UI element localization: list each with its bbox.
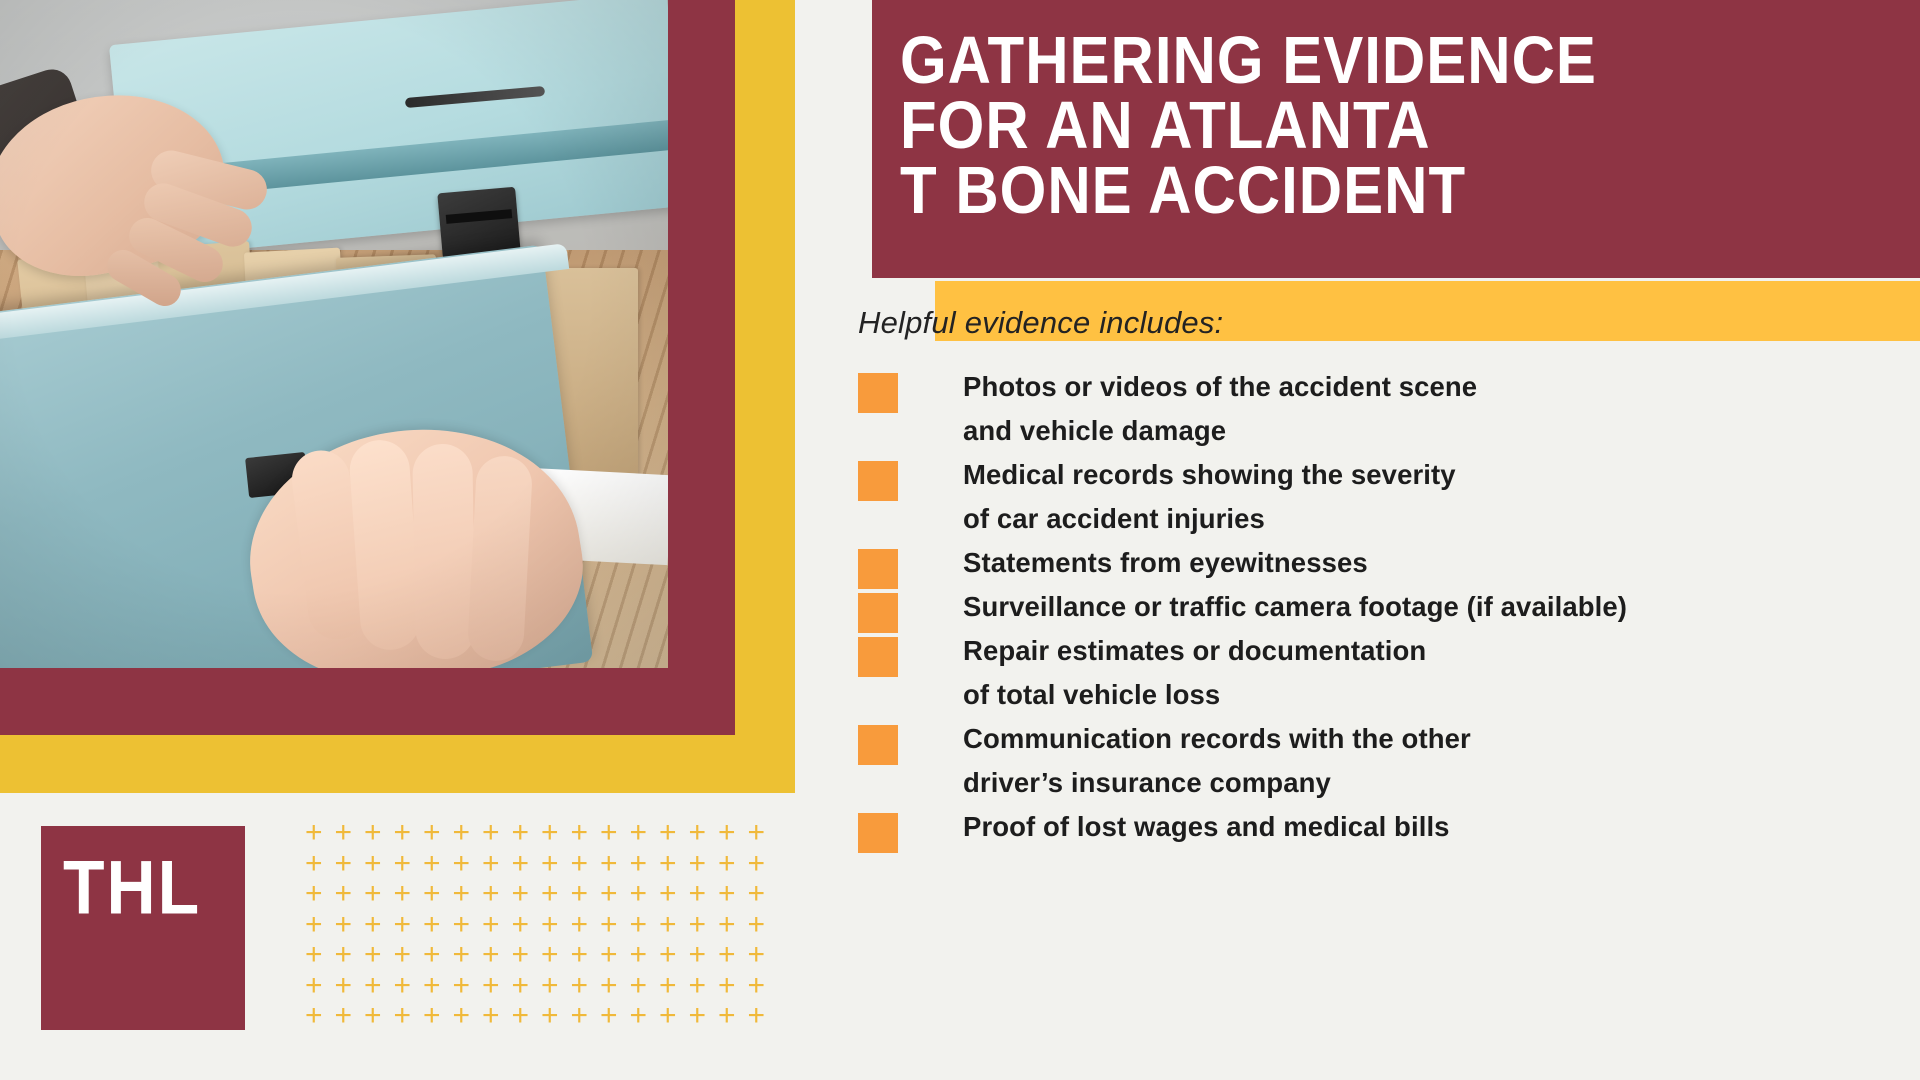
plus-icon: +: [571, 940, 589, 970]
plus-icon: +: [748, 849, 766, 879]
evidence-list: Photos or videos of the accident scene a…: [858, 365, 1898, 849]
plus-icon: +: [541, 971, 559, 1001]
plus-icon: +: [305, 940, 323, 970]
square-bullet-icon: [858, 725, 898, 765]
plus-icon: +: [453, 910, 471, 940]
decor-maroon-horizontal-bar: [0, 668, 735, 735]
plus-icon: +: [748, 910, 766, 940]
plus-icon: +: [541, 1001, 559, 1031]
plus-icon: +: [423, 971, 441, 1001]
decor-plus-pattern: ++++++++++++++++++++++++++++++++++++++++…: [305, 818, 765, 1040]
square-bullet-icon: [858, 373, 898, 413]
plus-icon: +: [541, 910, 559, 940]
plus-icon: +: [541, 818, 559, 848]
plus-icon: +: [512, 910, 530, 940]
plus-icon: +: [335, 879, 353, 909]
plus-icon: +: [718, 818, 736, 848]
plus-icon: +: [512, 940, 530, 970]
list-item-label-line2: and vehicle damage: [963, 409, 1898, 453]
square-bullet-icon: [858, 549, 898, 589]
plus-icon: +: [541, 879, 559, 909]
plus-icon: +: [571, 849, 589, 879]
plus-icon: +: [689, 1001, 707, 1031]
thl-logo-text: THL: [63, 844, 201, 931]
square-bullet-icon: [858, 637, 898, 677]
plus-icon: +: [659, 940, 677, 970]
plus-icon: +: [423, 849, 441, 879]
plus-icon: +: [689, 910, 707, 940]
plus-icon: +: [689, 879, 707, 909]
thl-logo: THL: [41, 826, 245, 1030]
plus-icon: +: [718, 1001, 736, 1031]
plus-icon: +: [748, 879, 766, 909]
plus-icon: +: [630, 849, 648, 879]
plus-icon: +: [364, 879, 382, 909]
plus-icon: +: [600, 971, 618, 1001]
photo-canvas: [0, 0, 668, 673]
plus-icon: +: [541, 940, 559, 970]
plus-icon: +: [423, 1001, 441, 1031]
plus-icon: +: [571, 879, 589, 909]
intro-text: Helpful evidence includes:: [858, 305, 1223, 341]
list-item-label: Surveillance or traffic camera footage (…: [963, 585, 1898, 629]
list-item-label: Photos or videos of the accident scene: [963, 365, 1898, 409]
plus-icon: +: [630, 971, 648, 1001]
page-title: GATHERING EVIDENCE FOR AN ATLANTA T BONE…: [900, 28, 1910, 223]
plus-icon: +: [394, 940, 412, 970]
page-title-line-1: GATHERING EVIDENCE: [900, 28, 1910, 93]
plus-icon: +: [689, 849, 707, 879]
plus-icon: +: [305, 971, 323, 1001]
list-item: Repair estimates or documentation of tot…: [858, 629, 1898, 717]
plus-icon: +: [364, 971, 382, 1001]
plus-icon: +: [482, 1001, 500, 1031]
list-item-label-line2: driver’s insurance company: [963, 761, 1898, 805]
plus-icon: +: [335, 1001, 353, 1031]
square-bullet-icon: [858, 593, 898, 633]
list-item: Photos or videos of the accident scene a…: [858, 365, 1898, 453]
list-item-label-line2: of total vehicle loss: [963, 673, 1898, 717]
plus-icon: +: [571, 971, 589, 1001]
plus-icon: +: [718, 910, 736, 940]
list-item: Statements from eyewitnesses: [858, 541, 1898, 585]
plus-icon: +: [423, 818, 441, 848]
plus-icon: +: [482, 879, 500, 909]
plus-icon: +: [512, 818, 530, 848]
plus-icon: +: [659, 818, 677, 848]
plus-icon: +: [394, 818, 412, 848]
square-bullet-icon: [858, 461, 898, 501]
plus-icon: +: [335, 849, 353, 879]
list-item-label: Communication records with the other: [963, 717, 1898, 761]
plus-icon: +: [335, 940, 353, 970]
plus-icon: +: [512, 879, 530, 909]
plus-icon: +: [394, 910, 412, 940]
list-item: Surveillance or traffic camera footage (…: [858, 585, 1898, 629]
plus-icon: +: [512, 849, 530, 879]
plus-icon: +: [571, 910, 589, 940]
plus-icon: +: [423, 910, 441, 940]
plus-icon: +: [364, 818, 382, 848]
plus-icon: +: [600, 1001, 618, 1031]
plus-icon: +: [718, 940, 736, 970]
plus-icon: +: [482, 818, 500, 848]
list-item-label: Medical records showing the severity: [963, 453, 1898, 497]
square-bullet-icon: [858, 813, 898, 853]
plus-icon: +: [482, 849, 500, 879]
plus-icon: +: [423, 879, 441, 909]
plus-icon: +: [364, 910, 382, 940]
page-title-line-3: T BONE ACCIDENT: [900, 158, 1910, 223]
plus-icon: +: [659, 910, 677, 940]
plus-icon: +: [630, 910, 648, 940]
plus-icon: +: [305, 1001, 323, 1031]
list-item-label: Repair estimates or documentation: [963, 629, 1898, 673]
plus-icon: +: [659, 849, 677, 879]
plus-icon: +: [600, 849, 618, 879]
plus-icon: +: [364, 849, 382, 879]
plus-icon: +: [571, 1001, 589, 1031]
plus-icon: +: [630, 940, 648, 970]
plus-icon: +: [689, 971, 707, 1001]
plus-icon: +: [453, 1001, 471, 1031]
plus-icon: +: [335, 910, 353, 940]
plus-icon: +: [748, 971, 766, 1001]
plus-icon: +: [394, 971, 412, 1001]
plus-icon: +: [394, 1001, 412, 1031]
plus-icon: +: [394, 879, 412, 909]
plus-icon: +: [305, 879, 323, 909]
plus-icon: +: [364, 940, 382, 970]
plus-icon: +: [600, 910, 618, 940]
plus-icon: +: [364, 1001, 382, 1031]
plus-icon: +: [453, 879, 471, 909]
plus-icon: +: [453, 849, 471, 879]
plus-icon: +: [482, 910, 500, 940]
plus-icon: +: [748, 818, 766, 848]
list-item-label-line2: of car accident injuries: [963, 497, 1898, 541]
plus-icon: +: [453, 818, 471, 848]
plus-icon: +: [659, 879, 677, 909]
list-item-label: Statements from eyewitnesses: [963, 541, 1898, 585]
plus-icon: +: [453, 940, 471, 970]
photo-vignette: [0, 0, 668, 673]
evidence-photo: [0, 0, 668, 673]
plus-icon: +: [689, 818, 707, 848]
decor-yellow-horizontal-bar: [0, 733, 795, 793]
decor-maroon-vertical-bar: [668, 0, 735, 735]
plus-icon: +: [630, 879, 648, 909]
plus-icon: +: [718, 971, 736, 1001]
plus-icon: +: [659, 971, 677, 1001]
plus-icon: +: [718, 879, 736, 909]
plus-icon: +: [630, 1001, 648, 1031]
plus-icon: +: [689, 940, 707, 970]
plus-icon: +: [305, 910, 323, 940]
plus-icon: +: [718, 849, 736, 879]
page-title-line-2: FOR AN ATLANTA: [900, 93, 1910, 158]
plus-icon: +: [630, 818, 648, 848]
plus-icon: +: [748, 940, 766, 970]
plus-icon: +: [453, 971, 471, 1001]
plus-icon: +: [541, 849, 559, 879]
list-item: Communication records with the other dri…: [858, 717, 1898, 805]
plus-icon: +: [600, 818, 618, 848]
plus-icon: +: [335, 818, 353, 848]
plus-icon: +: [512, 971, 530, 1001]
plus-icon: +: [305, 818, 323, 848]
list-item-label: Proof of lost wages and medical bills: [963, 805, 1898, 849]
plus-icon: +: [512, 1001, 530, 1031]
plus-icon: +: [482, 971, 500, 1001]
plus-icon: +: [571, 818, 589, 848]
plus-icon: +: [423, 940, 441, 970]
decor-yellow-vertical-bar: [735, 0, 795, 793]
plus-icon: +: [305, 849, 323, 879]
list-item: Medical records showing the severity of …: [858, 453, 1898, 541]
plus-icon: +: [748, 1001, 766, 1031]
plus-icon: +: [600, 940, 618, 970]
plus-icon: +: [659, 1001, 677, 1031]
plus-icon: +: [394, 849, 412, 879]
plus-icon: +: [335, 971, 353, 1001]
list-item: Proof of lost wages and medical bills: [858, 805, 1898, 849]
plus-icon: +: [482, 940, 500, 970]
plus-icon: +: [600, 879, 618, 909]
